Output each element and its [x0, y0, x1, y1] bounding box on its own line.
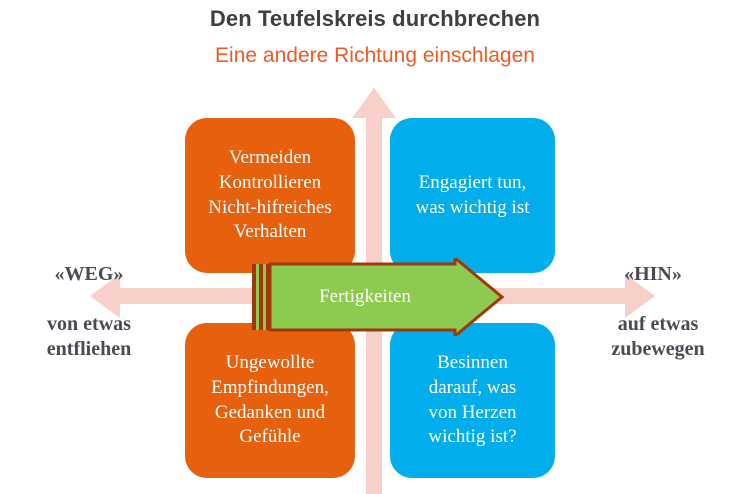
quadrant-bottom-right-text: Besinnen darauf, was von Herzen wichtig …: [420, 351, 524, 450]
axis-arrows: [0, 0, 750, 494]
quadrant-line: Kontrollieren: [208, 171, 331, 196]
quadrant-line: von Herzen: [428, 401, 516, 426]
quadrant-line: Engagiert tun,: [416, 171, 530, 196]
quadrant-line: Vermeiden: [208, 146, 331, 171]
hin-description-line-1: auf etwas: [578, 312, 738, 337]
diagram-canvas: Den Teufelskreis durchbrechen Eine ander…: [0, 0, 750, 494]
hin-label-description: auf etwas zubewegen: [578, 312, 738, 362]
quadrant-line: Ungewollte: [211, 351, 329, 376]
quadrant-line: Empfindungen,: [211, 376, 329, 401]
skills-arrow-icon[interactable]: [250, 258, 505, 336]
quadrant-bottom-left-text: Ungewollte Empfindungen, Gedanken und Ge…: [203, 351, 337, 450]
quadrant-line: darauf, was: [428, 376, 516, 401]
weg-description-line-2: entfliehen: [10, 337, 168, 362]
hin-description-line-2: zubewegen: [578, 337, 738, 362]
quadrant-line: was wichtig ist: [416, 196, 530, 221]
quadrant-bottom-left[interactable]: Ungewollte Empfindungen, Gedanken und Ge…: [185, 323, 355, 478]
quadrant-line: Verhalten: [208, 220, 331, 245]
quadrant-line: Gedanken und: [211, 401, 329, 426]
quadrant-top-left-text: Vermeiden Kontrollieren Nicht-hifreiches…: [200, 146, 339, 245]
quadrant-line: wichtig ist?: [428, 425, 516, 450]
weg-label-title: «WEG»: [14, 262, 164, 287]
quadrant-line: Besinnen: [428, 351, 516, 376]
hin-label-title: «HIN»: [578, 262, 728, 287]
quadrant-top-right-text: Engagiert tun, was wichtig ist: [408, 171, 538, 220]
quadrant-line: Gefühle: [211, 425, 329, 450]
quadrant-top-right[interactable]: Engagiert tun, was wichtig ist: [390, 118, 555, 273]
weg-description-line-1: von etwas: [10, 312, 168, 337]
weg-label-description: von etwas entfliehen: [10, 312, 168, 362]
quadrant-top-left[interactable]: Vermeiden Kontrollieren Nicht-hifreiches…: [185, 118, 355, 273]
quadrant-bottom-right[interactable]: Besinnen darauf, was von Herzen wichtig …: [390, 323, 555, 478]
quadrant-line: Nicht-hifreiches: [208, 196, 331, 221]
